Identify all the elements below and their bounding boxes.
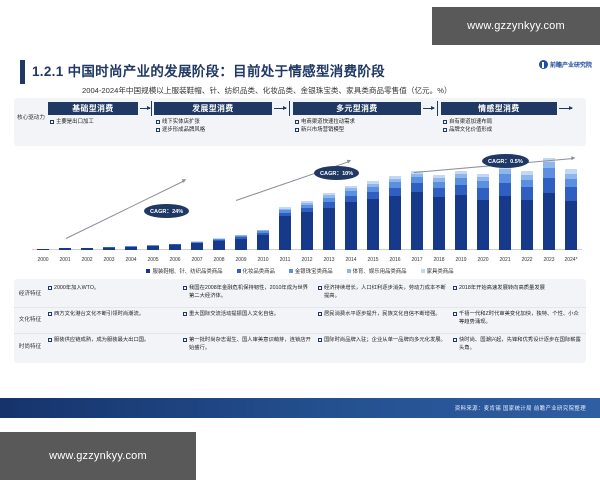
chart-legend: 服装鞋帽、针、纺织品类商品化妆品类商品金银珠宝类商品体育、娱乐用品类商品家具类商… [0, 267, 600, 275]
chart-bar-segment [543, 193, 556, 250]
chart-bar[interactable] [543, 158, 556, 250]
stage-2-point-1: 线下实体店扩张 [162, 119, 200, 125]
chart-bar-segment [279, 216, 292, 250]
stage-4-point-2: 品牌文化价值形成 [449, 127, 492, 133]
chart-bar[interactable] [279, 207, 292, 250]
stage-box-3[interactable]: 多元型消费 [293, 102, 421, 115]
table-cell-text: 经济持续增长，人口红利逐步消失，劳动力成本不断提高。 [324, 285, 446, 304]
stage-box-4[interactable]: 情感型消费 [441, 102, 557, 115]
watermark-top-text: www.gzzynkyy.com [467, 20, 565, 32]
chart-bar[interactable] [213, 238, 226, 250]
chart-bar-segment [477, 188, 490, 199]
stage-2-point-2: 逐步形成品牌风格 [162, 127, 205, 133]
legend-label: 化妆品类商品 [243, 267, 275, 275]
bullet-box-icon [48, 286, 52, 290]
chart-bar-segment [213, 241, 226, 250]
table-cell: 2000年加入WTO。 [46, 282, 181, 307]
page-title: 1.2.1 中国时尚产业的发展阶段：目前处于情感型消费阶段 [32, 60, 385, 80]
chart-bar[interactable] [565, 169, 578, 250]
chart-x-label: 2006 [164, 257, 186, 263]
table-row: 时尚特征服装供应链成熟，成为服装最大出口国。第一批时尚杂志诞生、国人审美意识萌芽… [14, 334, 586, 360]
legend-label: 金银珠宝类商品 [295, 267, 333, 275]
legend-swatch-icon [146, 269, 150, 273]
stage-3-points: 电商渠道快速拉动需求 新兴市场营销模型 [295, 118, 355, 134]
legend-label: 家具类商品 [427, 267, 454, 275]
chart-bar-segment [323, 208, 336, 250]
chart-bar-segment [477, 200, 490, 250]
chart-bar[interactable] [433, 175, 446, 250]
chart-x-label: 2015 [362, 257, 384, 263]
chart-bar-segment [521, 180, 534, 188]
chart-bar-segment [565, 179, 578, 188]
chart-bar-segment [499, 174, 512, 183]
table-row: 经济特征2000年加入WTO。我国在2008年金融危机保持韧性，2010年成为世… [14, 282, 586, 308]
stage-arrow-3 [423, 108, 434, 109]
chart-bar-segment [367, 192, 380, 199]
bullet-box-icon [48, 338, 52, 342]
chart-bar-segment [191, 243, 204, 250]
chart-bar[interactable] [147, 245, 160, 250]
table-cell-text: 重大国际交流活动提振国人文化自信。 [189, 311, 279, 330]
table-cell: 重大国际交流活动提振国人文化自信。 [181, 308, 316, 333]
legend-swatch-icon [347, 269, 351, 273]
chart-bar-segment [433, 188, 446, 197]
stage-divider-1 [151, 101, 152, 116]
table-cell-text: 千禧一代和Z时代审美变化加快，独特、个性、小众等趋势涌现。 [459, 311, 581, 330]
bullet-box-icon [48, 312, 52, 316]
chart-bar-segment [411, 192, 424, 250]
legend-label: 服装鞋帽、针、纺织品类商品 [152, 267, 222, 275]
chart-bar[interactable] [389, 176, 402, 250]
table-cell: 快时尚、国潮兴起，先锋和优秀设计逐步在国际崭露头角。 [451, 334, 586, 360]
legend-item[interactable]: 服装鞋帽、针、纺织品类商品 [146, 267, 222, 275]
bullet-box-icon [50, 120, 54, 124]
bullet-box-icon [295, 120, 299, 124]
table-cell-text: 第一批时尚杂志诞生、国人审美意识萌芽，连锁店开始盛行。 [189, 337, 311, 357]
chart-x-label: 2024* [560, 257, 582, 263]
title-accent-bar [20, 60, 25, 84]
stage-2-points: 线下实体店扩张 逐步形成品牌风格 [156, 118, 205, 134]
chart-bar-segment [367, 199, 380, 250]
table-cell: 第一批时尚杂志诞生、国人审美意识萌芽，连锁店开始盛行。 [181, 334, 316, 360]
chart-x-label: 2023 [538, 257, 560, 263]
legend-label: 体育、娱乐用品类商品 [353, 267, 407, 275]
legend-item[interactable]: 化妆品类商品 [237, 267, 275, 275]
bullet-box-icon [156, 120, 160, 124]
stage-4-points: 自有渠道加速布局 品牌文化价值形成 [443, 118, 492, 134]
chart-bar[interactable] [81, 248, 94, 251]
stage-3-label: 多元型消费 [336, 103, 377, 114]
table-cell: 我国在2008年金融危机保持韧性，2010年成为世界第二大经济体。 [181, 282, 316, 307]
stage-1-point-1: 主要是出口加工 [56, 119, 94, 125]
table-cell-text: 2000年加入WTO。 [54, 285, 99, 304]
chart-bar-segment [455, 178, 468, 185]
table-cell: 西方文化港台文化不断引领时尚潮流。 [46, 308, 181, 333]
stage-divider-3 [437, 101, 438, 116]
chart-x-label: 2012 [296, 257, 318, 263]
chart-bar-segment [499, 196, 512, 250]
chart-x-label: 2016 [384, 257, 406, 263]
watermark-bottom: www.gzzynkyy.com [0, 432, 196, 480]
chart-bar-segment [565, 201, 578, 250]
chart-bar-segment [455, 195, 468, 250]
chart-bar-segment [565, 187, 578, 201]
stage-2-label: 发展型消费 [192, 103, 233, 114]
stage-1-label: 基础型消费 [72, 103, 113, 114]
chart-bar[interactable] [521, 171, 534, 250]
chart-bar-segment [389, 196, 402, 250]
chart-bar-segment [499, 183, 512, 196]
legend-item[interactable]: 家具类商品 [421, 267, 454, 275]
table-cell-text: 快时尚、国潮兴起，先锋和优秀设计逐步在国际崭露头角。 [459, 337, 581, 357]
chart-bar-segment [301, 212, 314, 250]
bullet-box-icon [453, 312, 457, 316]
stage-4-label: 情感型消费 [478, 103, 519, 114]
chart-x-label: 2003 [98, 257, 120, 263]
chart-x-label: 2002 [76, 257, 98, 263]
chart-bar[interactable] [499, 165, 512, 250]
chart-bar-segment [477, 181, 490, 188]
chart-bar[interactable] [235, 235, 248, 250]
chart-x-label: 2019 [450, 257, 472, 263]
table-cell-text: 居民消费水平逐步提升，民族文化自信不断增强。 [324, 311, 441, 330]
table-cell: 千禧一代和Z时代审美变化加快，独特、个性、小众等趋势涌现。 [451, 308, 586, 333]
cagr-label: CAGR：0.5% [482, 154, 529, 168]
table-row-label: 经济特征 [14, 282, 46, 307]
legend-swatch-icon [289, 269, 293, 273]
chart-bar-segment [257, 235, 270, 250]
legend-item[interactable]: 体育、娱乐用品类商品 [347, 267, 407, 275]
bullet-box-icon [443, 120, 447, 124]
table-cell-text: 我国在2008年金融危机保持韧性，2010年成为世界第二大经济体。 [189, 285, 311, 304]
chart-bar-segment [543, 178, 556, 193]
table-cell-text: 服装供应链成熟，成为服装最大出口国。 [54, 337, 149, 357]
cagr-label: CAGR：24% [144, 204, 189, 218]
legend-swatch-icon [237, 269, 241, 273]
characteristics-table: 经济特征2000年加入WTO。我国在2008年金融危机保持韧性，2010年成为世… [14, 279, 586, 363]
chart-subtitle: 2004-2024年中国规模以上服装鞋帽、针、纺织品类、化妆品类、金银珠宝类、家… [82, 85, 452, 96]
bullet-box-icon [183, 286, 187, 290]
stage-3-point-1: 电商渠道快速拉动需求 [301, 119, 355, 125]
stage-3-point-2: 新兴市场营销模型 [301, 127, 344, 133]
chart-bar-segment [543, 168, 556, 178]
chart-bar-segment [433, 197, 446, 250]
chart-bar-segment [125, 247, 138, 250]
bullet-box-icon [318, 312, 322, 316]
watermark-top: www.gzzynkyy.com [432, 7, 600, 45]
table-row: 文化特征西方文化港台文化不断引领时尚潮流。重大国际交流活动提振国人文化自信。居民… [14, 308, 586, 334]
chart-bar[interactable] [345, 186, 358, 250]
stage-arrow-4 [559, 108, 572, 109]
logo-mark-icon [539, 60, 548, 69]
table-cell: 2018年开始高速发展转向高质量发展 [451, 282, 586, 307]
cagr-label: CAGR：10% [314, 166, 359, 180]
bullet-box-icon [453, 286, 457, 290]
bullet-box-icon [318, 338, 322, 342]
chart-x-label: 2010 [252, 257, 274, 263]
chart-bar-segment [235, 239, 248, 250]
chart-bar[interactable] [103, 247, 116, 250]
bullet-box-icon [453, 338, 457, 342]
chart-bar-segment [81, 248, 94, 250]
chart-bar-segment [455, 185, 468, 195]
chart-bar-segment [389, 188, 402, 196]
chart-bar[interactable] [191, 241, 204, 250]
stage-arrow-2 [274, 108, 286, 109]
bullet-box-icon [443, 128, 447, 132]
chart-bar-segment [521, 200, 534, 250]
chart-bar-segment [521, 187, 534, 200]
logo-name: 前瞻产业研究院 [550, 60, 592, 69]
chart-x-label: 2014 [340, 257, 362, 263]
development-stages: 核心驱动力 基础型消费 主要是出口加工 发展型消费 线下实体店扩张 逐步形成品牌… [14, 98, 586, 146]
chart-bar[interactable] [257, 230, 270, 250]
source-bar: 资料来源：麦肯锡 国家统计局 前瞻产业研究院整理 [0, 398, 600, 418]
chart-bar[interactable] [37, 249, 50, 251]
chart-bar-segment [103, 248, 116, 250]
legend-item[interactable]: 金银珠宝类商品 [289, 267, 333, 275]
chart-bar-segment [59, 248, 72, 250]
brand-logo: 前瞻产业研究院 [539, 60, 592, 69]
chart-x-label: 2001 [54, 257, 76, 263]
chart-bar-segment [147, 246, 160, 250]
chart-x-label: 2020 [472, 257, 494, 263]
chart-bar-segment [345, 202, 358, 250]
stages-row-label: 核心驱动力 [16, 115, 46, 122]
table-cell: 国际时尚品牌入驻；企业从单一品牌向多元化发展。 [316, 334, 451, 360]
chart-bar-segment [37, 249, 50, 250]
chart-bar[interactable] [301, 201, 314, 250]
table-cell: 经济持续增长，人口红利逐步消失，劳动力成本不断提高。 [316, 282, 451, 307]
chart-bar[interactable] [125, 246, 138, 250]
watermark-bottom-text: www.gzzynkyy.com [49, 450, 147, 462]
table-row-label: 文化特征 [14, 308, 46, 333]
chart-x-label: 2017 [406, 257, 428, 263]
chart-bar[interactable] [323, 193, 336, 250]
chart-x-label: 2022 [516, 257, 538, 263]
chart-x-label: 2018 [428, 257, 450, 263]
chart-bar-segment [411, 183, 424, 192]
retail-value-chart: 2000200120022003200420052006200720082009… [14, 148, 586, 266]
table-cell-text: 西方文化港台文化不断引领时尚潮流。 [54, 311, 144, 330]
table-cell: 服装供应链成熟，成为服装最大出口国。 [46, 334, 181, 360]
stage-arrow-1 [140, 108, 150, 109]
bullet-box-icon [318, 286, 322, 290]
chart-bar[interactable] [367, 181, 380, 250]
chart-x-label: 2009 [230, 257, 252, 263]
chart-bar[interactable] [411, 171, 424, 250]
stage-box-1[interactable]: 基础型消费 [48, 102, 138, 115]
bullet-box-icon [156, 128, 160, 132]
stage-1-points: 主要是出口加工 [50, 118, 94, 126]
table-row-label: 时尚特征 [14, 334, 46, 360]
bullet-box-icon [295, 128, 299, 132]
stage-box-2[interactable]: 发展型消费 [154, 102, 272, 115]
chart-bar[interactable] [455, 171, 468, 250]
chart-x-label: 2011 [274, 257, 296, 263]
chart-x-label: 2008 [208, 257, 230, 263]
table-cell-text: 2018年开始高速发展转向高质量发展 [459, 285, 545, 304]
chart-x-label: 2013 [318, 257, 340, 263]
source-text: 资料来源：麦肯锡 国家统计局 前瞻产业研究院整理 [455, 404, 586, 412]
chart-bar[interactable] [477, 174, 490, 250]
stage-divider-2 [289, 101, 290, 116]
bullet-box-icon [183, 312, 187, 316]
chart-bar[interactable] [59, 248, 72, 250]
chart-bar[interactable] [169, 243, 182, 250]
chart-bar-segment [169, 245, 182, 250]
chart-x-label: 2005 [142, 257, 164, 263]
table-cell: 居民消费水平逐步提升，民族文化自信不断增强。 [316, 308, 451, 333]
chart-x-label: 2000 [32, 257, 54, 263]
legend-swatch-icon [421, 269, 425, 273]
slide-header: 1.2.1 中国时尚产业的发展阶段：目前处于情感型消费阶段 2004-2024年… [0, 52, 600, 98]
chart-x-label: 2021 [494, 257, 516, 263]
table-cell-text: 国际时尚品牌入驻；企业从单一品牌向多元化发展。 [324, 337, 446, 357]
chart-x-label: 2004 [120, 257, 142, 263]
bullet-box-icon [183, 338, 187, 342]
chart-x-label: 2007 [186, 257, 208, 263]
slide: 1.2.1 中国时尚产业的发展阶段：目前处于情感型消费阶段 2004-2024年… [0, 52, 600, 418]
stage-4-point-1: 自有渠道加速布局 [449, 119, 492, 125]
